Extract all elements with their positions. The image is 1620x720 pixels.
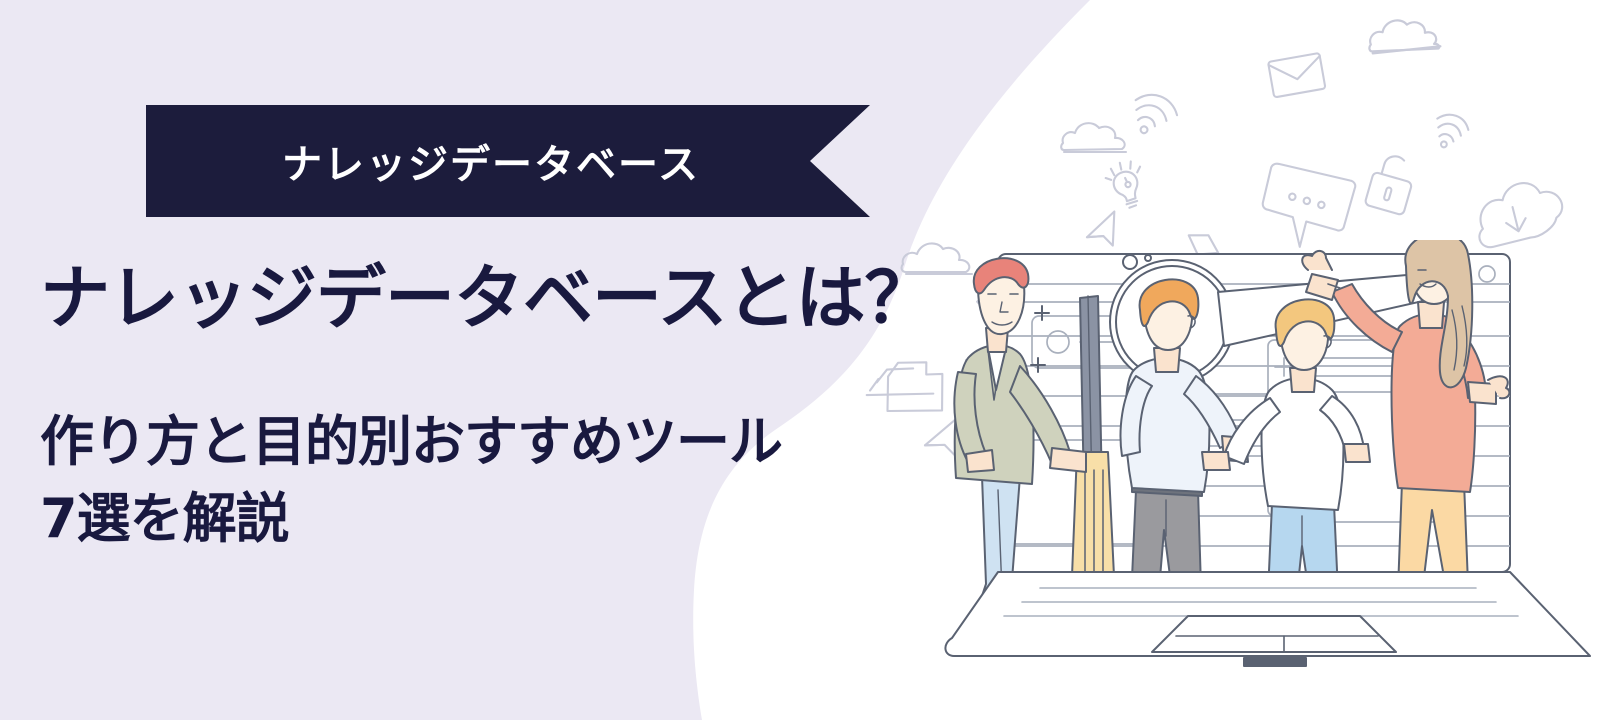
banner-content: ナレッジデータベース ナレッジデータベースとは？ 作り方と目的別おすすめツール … [0, 0, 1000, 720]
page-title: ナレッジデータベースとは？ [40, 262, 934, 336]
category-badge-label: ナレッジデータベース [146, 105, 870, 217]
wifi-icon [1126, 89, 1181, 142]
laptop-team-illustration [940, 240, 1600, 690]
subtitle-line-1: 作り方と目的別おすすめツール [40, 404, 782, 481]
category-badge: ナレッジデータベース [146, 105, 870, 217]
page-subtitle: 作り方と目的別おすすめツール 7選を解説 [40, 404, 782, 557]
hero-banner: ナレッジデータベース ナレッジデータベースとは？ 作り方と目的別おすすめツール … [0, 0, 1620, 720]
lightbulb-icon [1103, 159, 1148, 211]
cloud-icon [1367, 16, 1441, 56]
subtitle-line-2: 7選を解説 [40, 481, 782, 558]
cloud-download-icon [1469, 175, 1568, 250]
laptop-base [945, 572, 1590, 666]
lock-icon [1364, 152, 1418, 216]
wifi-icon [1429, 110, 1472, 153]
cloud-icon [1061, 123, 1126, 152]
envelope-icon [1268, 53, 1325, 97]
